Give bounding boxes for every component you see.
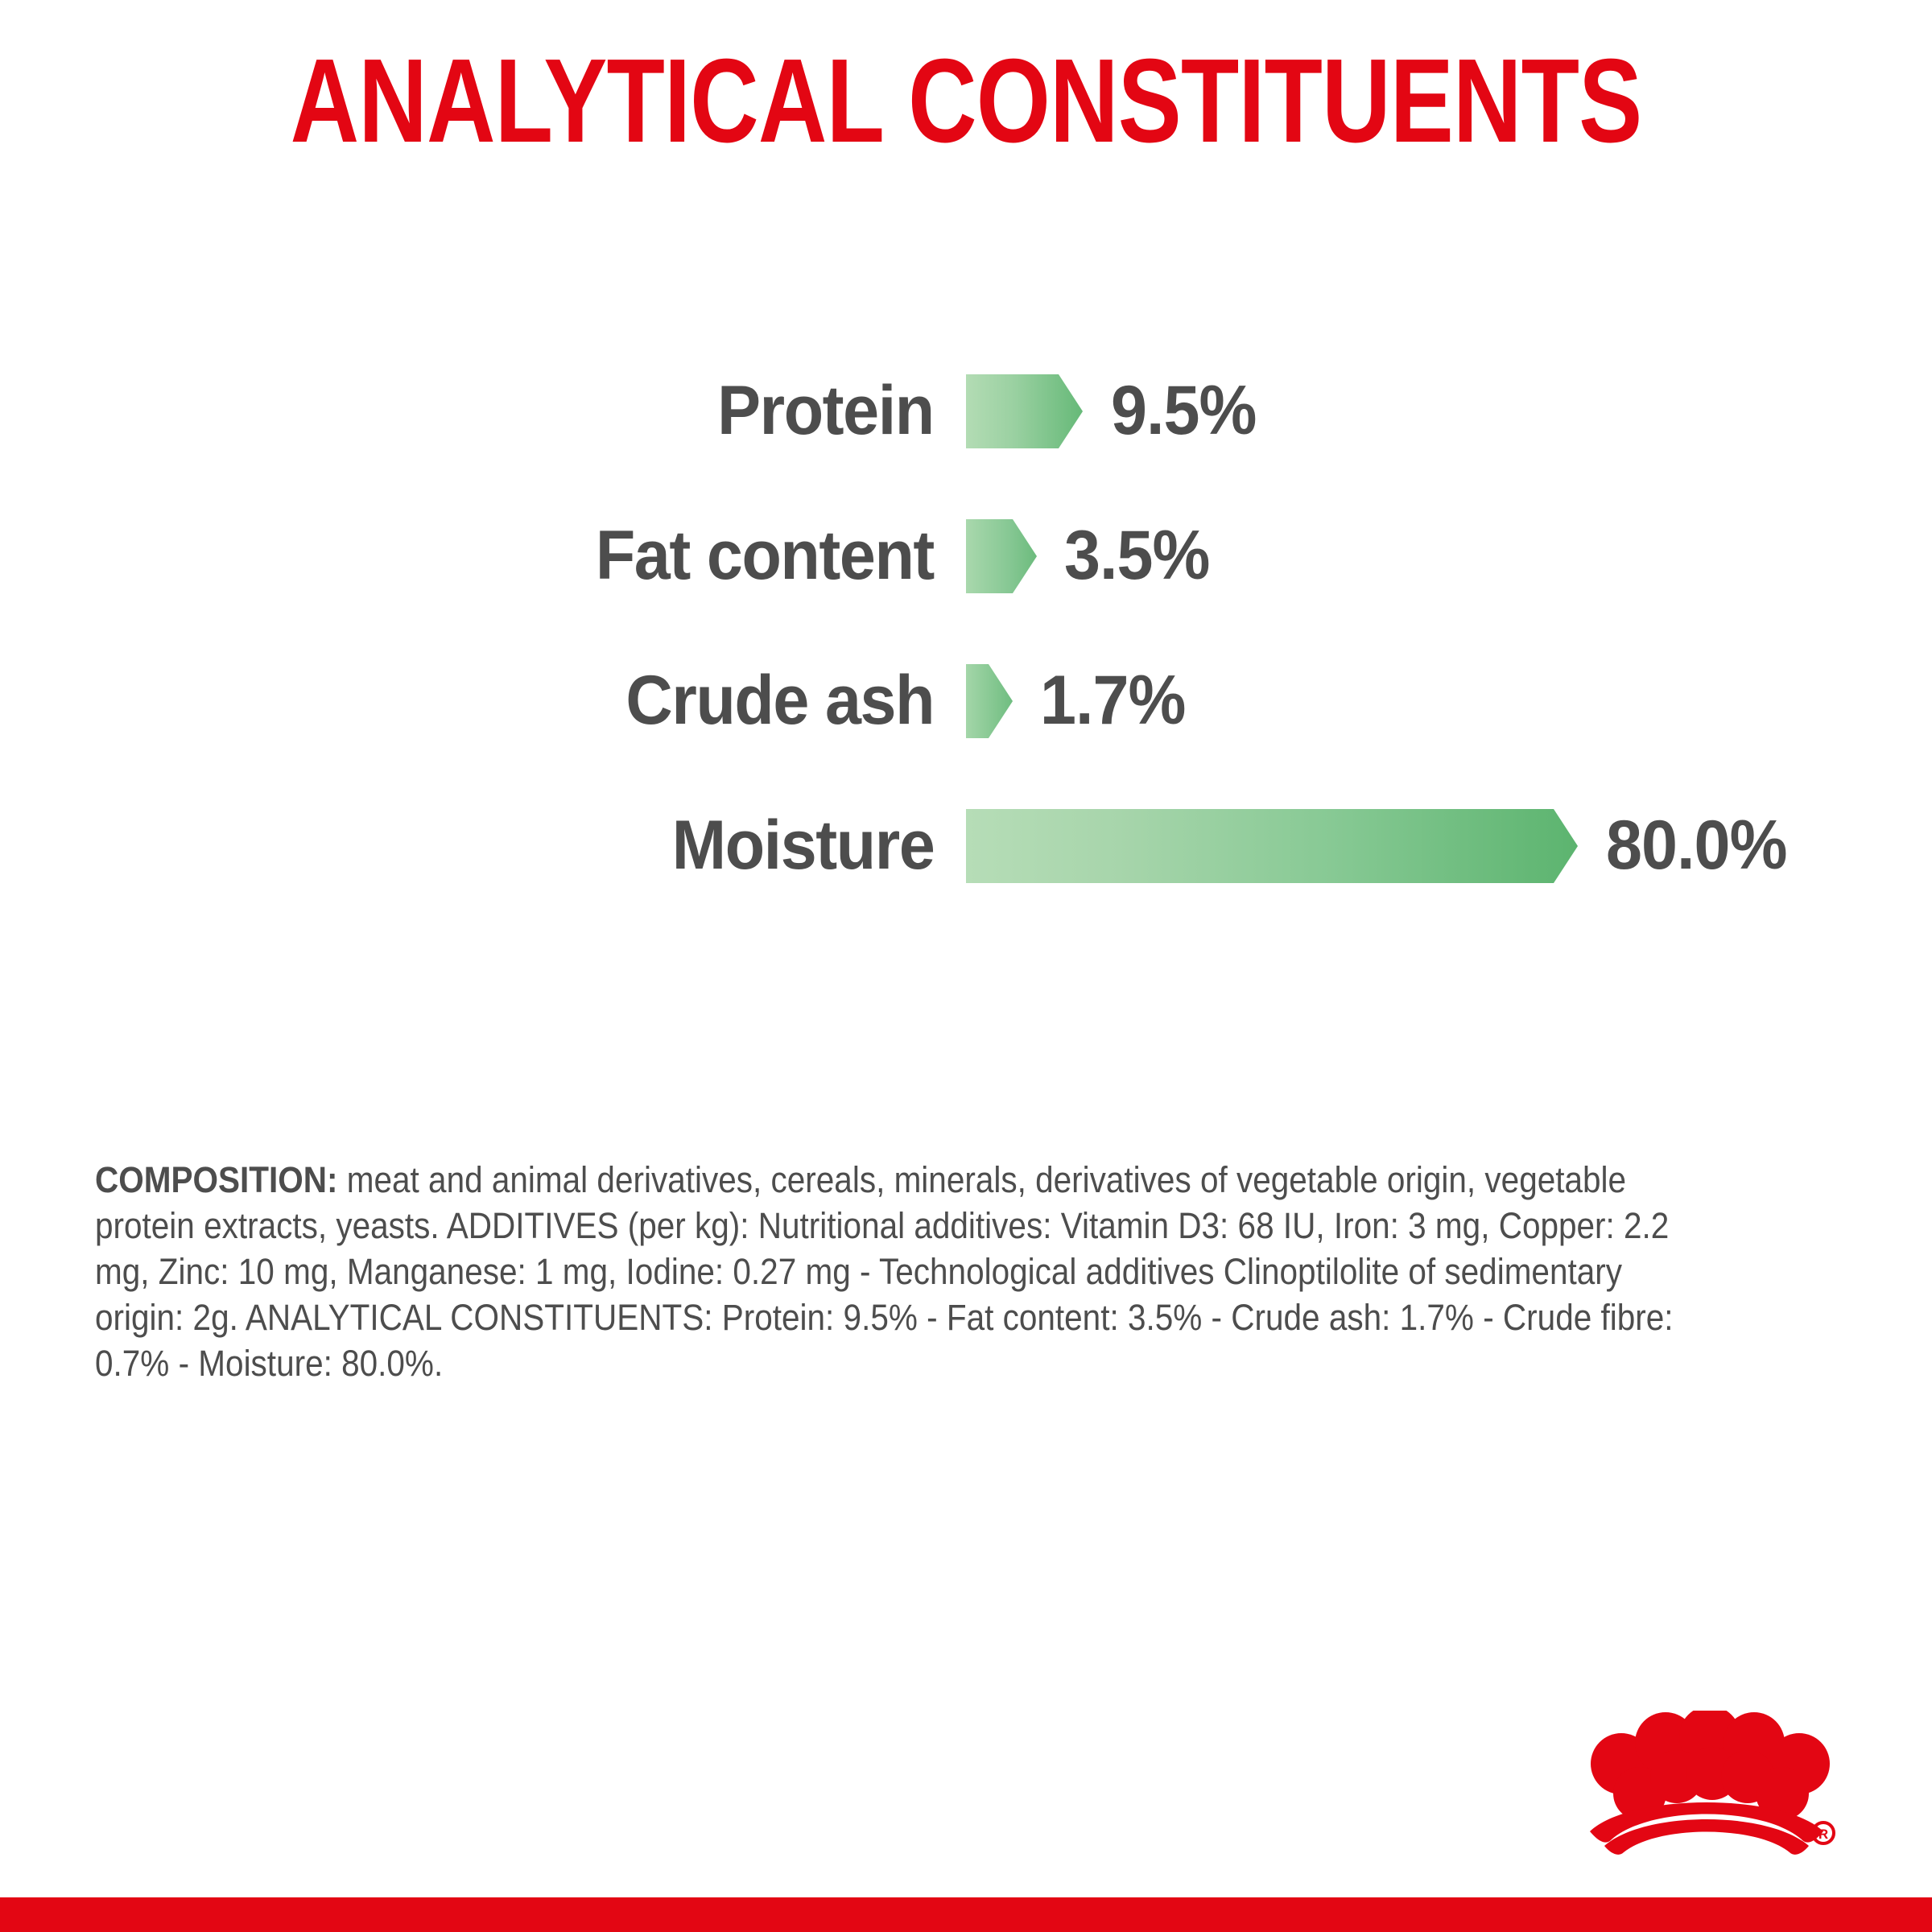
constituent-value-fat-content: 3.5%	[1064, 499, 1210, 612]
bottom-accent-bar	[0, 1897, 1932, 1932]
constituent-bar-protein	[966, 374, 1083, 448]
constituent-label-crude-ash: Crude ash	[625, 644, 934, 757]
constituent-value-protein: 9.5%	[1111, 354, 1257, 467]
constituent-row: Fat content 3.5%	[0, 499, 1932, 644]
constituent-label-fat-content: Fat content	[596, 499, 934, 612]
constituent-label-protein: Protein	[717, 354, 934, 467]
svg-text:R: R	[1818, 1827, 1828, 1842]
arrow-bar-icon	[966, 374, 1083, 448]
composition-paragraph: COMPOSITION: meat and animal derivatives…	[95, 1157, 1689, 1386]
constituent-bar-moisture	[966, 809, 1578, 883]
constituent-label-moisture: Moisture	[671, 789, 934, 902]
constituent-row: Crude ash 1.7%	[0, 644, 1932, 789]
crown-icon: R	[1574, 1711, 1839, 1864]
product-label-panel: ANALYTICAL CONSTITUENTS Protein 9.	[0, 0, 1932, 1932]
constituent-row: Protein 9.5%	[0, 354, 1932, 499]
constituent-value-moisture: 80.0%	[1606, 789, 1787, 902]
arrow-bar-icon	[966, 664, 1013, 738]
arrow-bar-icon	[966, 809, 1578, 883]
constituent-row: Moisture 80.0%	[0, 789, 1932, 934]
constituent-bar-crude-ash	[966, 664, 1013, 738]
page-title: ANALYTICAL CONSTITUENTS	[193, 42, 1739, 161]
analytical-constituents-chart: Protein 9.5% Fat content	[0, 354, 1932, 934]
composition-heading: COMPOSITION:	[95, 1159, 338, 1200]
constituent-bar-fat-content	[966, 519, 1037, 593]
royal-canin-crown-logo: R	[1574, 1711, 1839, 1864]
constituent-value-crude-ash: 1.7%	[1040, 644, 1186, 757]
arrow-bar-icon	[966, 519, 1037, 593]
